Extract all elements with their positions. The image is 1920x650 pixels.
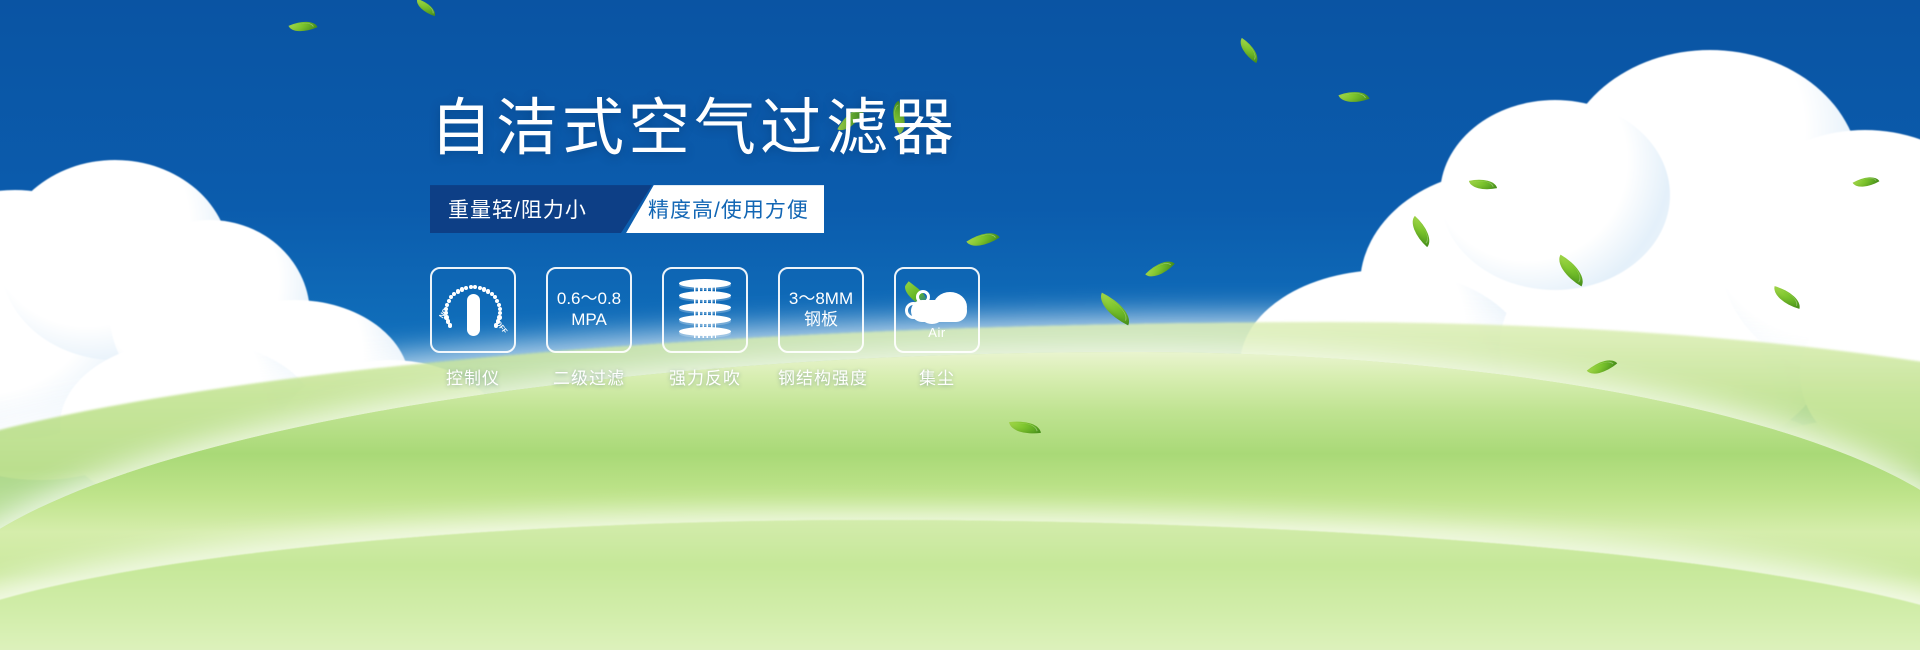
subtitle-tabs: 重量轻/阻力小 精度高/使用方便 xyxy=(430,185,822,233)
feature-item-two-stage-filter[interactable]: 0.6～0.8 MPA 二级过滤 xyxy=(546,267,632,389)
feature-item-steel-strength[interactable]: 3～8MM 钢板 钢结构强度 xyxy=(778,267,864,389)
feature-item-strong-blowback[interactable]: 强力反吹 xyxy=(662,267,748,389)
feature-label: 钢结构强度 xyxy=(778,364,864,389)
feature-icon-box: 3～8MM 钢板 xyxy=(778,267,864,353)
feature-item-controller[interactable]: NO OFF 控制仪 xyxy=(430,267,516,389)
cloud-ring xyxy=(905,302,922,319)
cloud-ring xyxy=(916,290,930,304)
feature-icon-box: Air xyxy=(894,267,980,353)
tab-label: 重量轻/阻力小 xyxy=(448,194,587,224)
feature-label: 强力反吹 xyxy=(662,364,748,389)
tab-label: 精度高/使用方便 xyxy=(648,194,809,224)
gauge-needle xyxy=(467,294,480,336)
gauge-tick xyxy=(445,303,449,307)
feature-item-dust-collection[interactable]: Air 集尘 xyxy=(894,267,980,389)
feature-label: 控制仪 xyxy=(430,364,516,389)
tab-weight-resistance[interactable]: 重量轻/阻力小 xyxy=(430,185,652,233)
cartridge-disc xyxy=(679,327,731,336)
tab-precision-convenience[interactable]: 精度高/使用方便 xyxy=(626,185,824,233)
gauge-tick xyxy=(448,323,452,327)
gauge-tick xyxy=(447,299,451,303)
gauge-tick xyxy=(464,286,468,290)
gauge-tick xyxy=(446,319,450,323)
feature-icon-box: 0.6～0.8 MPA xyxy=(546,267,632,353)
feature-icon-box: NO OFF xyxy=(430,267,516,353)
cartridge-disc xyxy=(679,315,731,324)
gauge-tick xyxy=(444,315,448,319)
gauge-icon: NO OFF xyxy=(438,278,508,342)
feature-list: NO OFF 控制仪 0.6～0.8 MPA 二级过滤 xyxy=(430,267,980,389)
filter-cartridge-icon xyxy=(677,279,733,341)
cartridge-disc xyxy=(679,291,731,300)
cartridge-disc xyxy=(679,303,731,312)
feature-label: 集尘 xyxy=(894,364,980,389)
gauge-tick xyxy=(473,285,477,289)
air-cloud-icon: Air xyxy=(903,282,971,338)
pressure-value-text: 0.6～0.8 MPA xyxy=(557,289,621,330)
hero-banner: 自洁式空气过滤器 重量轻/阻力小 精度高/使用方便 NO OFF 控制仪 xyxy=(0,0,1920,650)
cartridge-disc xyxy=(679,279,731,288)
air-text: Air xyxy=(903,325,971,340)
steel-value-text: 3～8MM 钢板 xyxy=(789,289,853,330)
page-title: 自洁式空气过滤器 xyxy=(430,96,980,161)
feature-label: 二级过滤 xyxy=(546,364,632,389)
banner-content: 自洁式空气过滤器 重量轻/阻力小 精度高/使用方便 NO OFF 控制仪 xyxy=(430,96,980,389)
gauge-tick xyxy=(494,323,498,327)
feature-icon-box xyxy=(662,267,748,353)
